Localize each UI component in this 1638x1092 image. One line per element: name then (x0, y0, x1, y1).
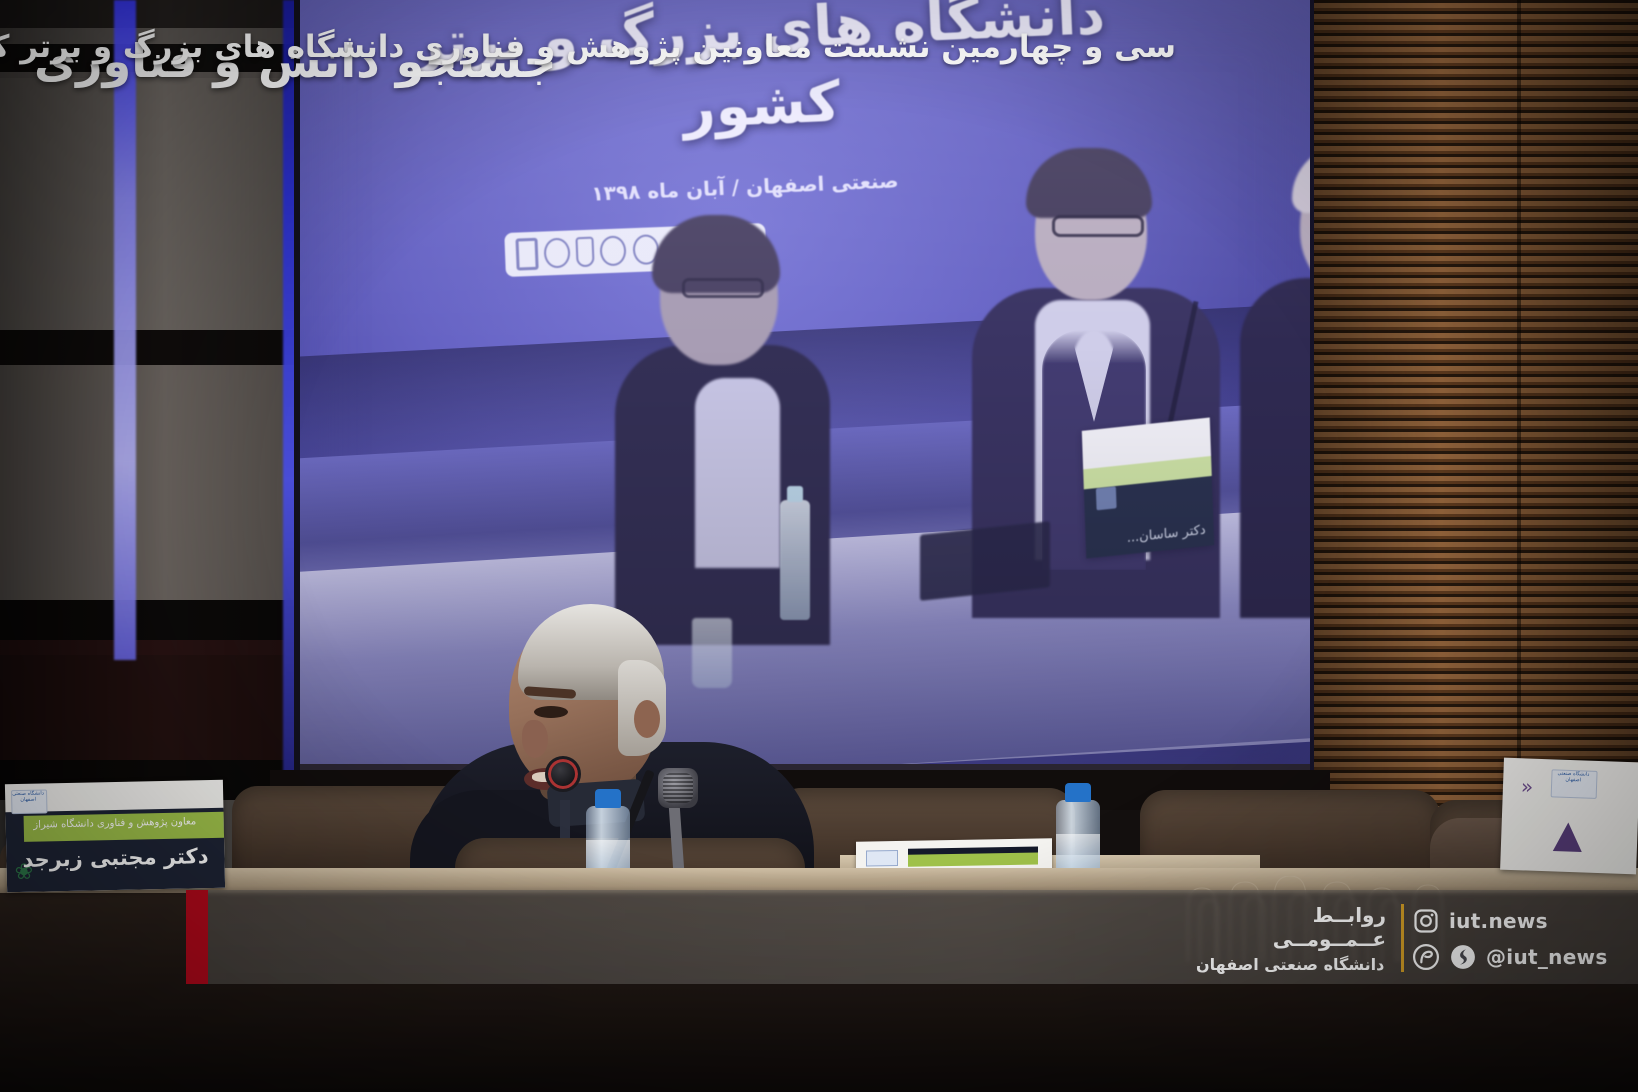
blue-light-strip-1 (114, 0, 136, 660)
eitaa-icon (1412, 943, 1440, 971)
bottle-cap-icon-2 (1065, 783, 1091, 802)
left-wall-shading (0, 0, 300, 880)
social-row-messengers[interactable]: @iut_news (1412, 943, 1592, 971)
university-label: دانشگاه صنعتی اصفهان (1196, 955, 1384, 974)
nameplate-zarbarjad: دانشگاه صنعتی اصفهان ❀ معاون پژوهش و فنا… (5, 780, 225, 893)
bottle-cap-icon (595, 789, 621, 808)
microphone-head-2-icon (658, 768, 698, 808)
caption-title: سی و چهارمین نشست معاونین پژوهش و فناوری… (0, 0, 1176, 94)
messenger-handle: @iut_news (1486, 945, 1608, 969)
social-row-instagram[interactable]: iut.news (1412, 907, 1592, 935)
nameplate-name: دکتر مجتبی زبرجد (6, 844, 224, 873)
screen-light-falloff (300, 0, 1310, 770)
right-nameplate-logo-text: دانشگاه صنعتی اصفهان (1552, 770, 1595, 795)
instagram-icon (1412, 907, 1440, 935)
gold-divider (1401, 904, 1404, 972)
projection-screen: دانشگاه های بزرگ و برتر کشور صنعتی اصفها… (300, 0, 1310, 770)
public-relations-block: روابــط عــمــومــی دانشگاه صنعتی اصفهان (1196, 898, 1386, 978)
social-handles-block: iut.news @iut_news (1412, 900, 1592, 978)
instagram-handle: iut.news (1449, 909, 1548, 933)
speaker-eye (534, 706, 568, 718)
speaker-nose (522, 720, 548, 758)
pr-label: روابــط عــمــومــی (1196, 903, 1386, 951)
bottle-label-2 (1056, 834, 1100, 868)
soroush-icon (1449, 943, 1477, 971)
center-nameplate-logo (866, 850, 898, 867)
nameplate-logo-text: دانشگاه صنعتی اصفهان (12, 790, 44, 811)
microphone-head-1-icon (545, 756, 581, 792)
speaker-ear (634, 700, 660, 738)
nameplate-right-partial: » دانشگاه صنعتی اصفهان ▲ (1500, 758, 1638, 875)
screenshot-root: دانشگاه های بزرگ و برتر کشور صنعتی اصفها… (0, 0, 1638, 1092)
chevron-right-icon: » (1521, 774, 1534, 798)
caption-accent-bar (186, 890, 208, 984)
center-nameplate-green-band (908, 853, 1038, 867)
iut-emblem-icon: ▲ (1552, 811, 1590, 860)
